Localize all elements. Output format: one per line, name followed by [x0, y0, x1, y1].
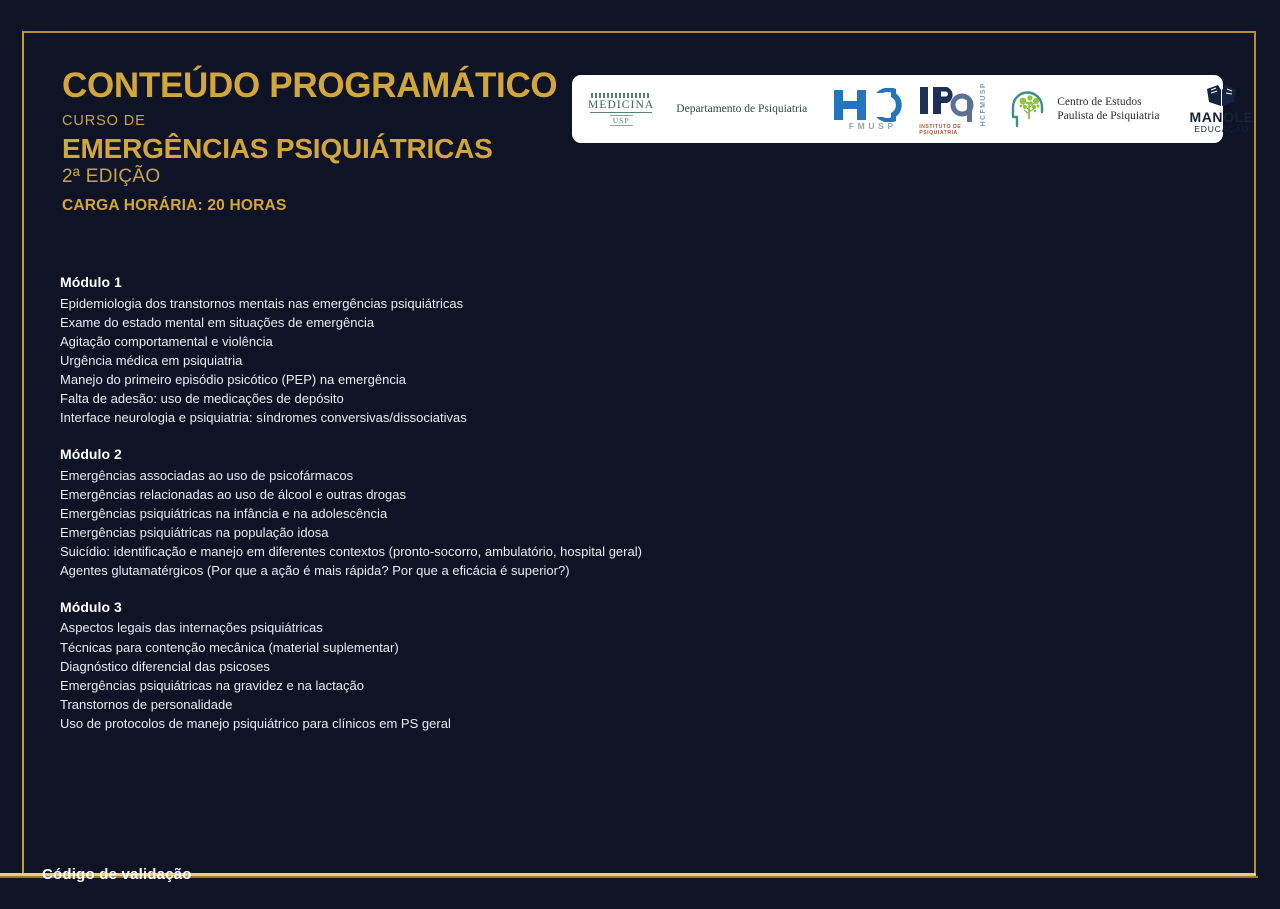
- head-brain-icon: [1009, 88, 1051, 130]
- ipq-hcfmusp-label: HCFMUSP: [980, 82, 987, 126]
- partner-logo-bar: MEDICINA USP Departamento de Psiquiatria…: [572, 75, 1223, 143]
- module-title: Módulo 2: [60, 444, 1190, 466]
- hc-monogram-icon: [833, 88, 909, 122]
- course-edition: 2ª EDIÇÃO: [62, 167, 562, 188]
- module-item: Técnicas para contenção mecânica (materi…: [60, 638, 1190, 657]
- module-title: Módulo 1: [60, 272, 1190, 294]
- module-item: Agentes glutamatérgicos (Por que a ação …: [60, 561, 1190, 580]
- module-item: Urgência médica em psiquiatria: [60, 351, 1190, 370]
- manole-wordmark-label: MANOLE: [1189, 110, 1253, 125]
- ipq-logo: INSTITUTO DE PSIQUIATRIA HCFMUSP: [919, 82, 987, 136]
- centro-estudos-label: Centro de Estudos Paulista de Psiquiatri…: [1057, 95, 1159, 123]
- usp-ornament-icon: [591, 93, 651, 98]
- module-item: Emergências psiquiátricas na infância e …: [60, 504, 1190, 523]
- ipq-mark-stack: INSTITUTO DE PSIQUIATRIA: [919, 85, 979, 136]
- manole-logo: MANOLE EDUCAÇÃO: [1189, 83, 1253, 134]
- department-label: Departamento de Psiquiatria: [676, 103, 807, 115]
- course-name: EMERGÊNCIAS PSIQUIÁTRICAS: [62, 134, 562, 163]
- module-item: Exame do estado mental em situações de e…: [60, 313, 1190, 332]
- module-block: Módulo 2 Emergências associadas ao uso d…: [60, 444, 1190, 580]
- module-item: Agitação comportamental e violência: [60, 332, 1190, 351]
- module-item: Transtornos de personalidade: [60, 695, 1190, 714]
- course-workload: CARGA HORÁRIA: 20 HORAS: [62, 197, 562, 214]
- usp-rule-divider: [590, 112, 652, 113]
- page-title: CONTEÚDO PROGRAMÁTICO: [62, 68, 562, 103]
- module-item: Epidemiologia dos transtornos mentais na…: [60, 294, 1190, 313]
- module-item: Suicídio: identificação e manejo em dife…: [60, 542, 1190, 561]
- module-block: Módulo 3 Aspectos legais das internações…: [60, 597, 1190, 733]
- module-item: Falta de adesão: uso de medicações de de…: [60, 389, 1190, 408]
- header-block: CONTEÚDO PROGRAMÁTICO CURSO DE EMERGÊNCI…: [62, 68, 562, 214]
- centro-estudos-logo: Centro de Estudos Paulista de Psiquiatri…: [1009, 88, 1159, 130]
- centro-estudos-line2: Paulista de Psiquiatria: [1057, 109, 1159, 123]
- module-item: Interface neurologia e psiquiatria: sínd…: [60, 408, 1190, 427]
- ipq-monogram-icon: [919, 85, 979, 123]
- module-item: Diagnóstico diferencial das psicoses: [60, 657, 1190, 676]
- usp-medicina-label: MEDICINA: [588, 99, 654, 111]
- module-block: Módulo 1 Epidemiologia dos transtornos m…: [60, 272, 1190, 427]
- ipq-institute-label: INSTITUTO DE PSIQUIATRIA: [919, 124, 979, 136]
- manole-sub-label: EDUCAÇÃO: [1194, 125, 1249, 134]
- module-item: Emergências psiquiátricas na população i…: [60, 523, 1190, 542]
- module-item: Uso de protocolos de manejo psiquiátrico…: [60, 714, 1190, 733]
- course-kicker: CURSO DE: [62, 114, 562, 130]
- syllabus-list: Módulo 1 Epidemiologia dos transtornos m…: [60, 272, 1190, 733]
- validation-code-label: Código de validação: [42, 866, 192, 883]
- open-book-icon: [1205, 83, 1239, 109]
- module-item: Emergências associadas ao uso de psicofá…: [60, 466, 1190, 485]
- hc-fmusp-logo: FMUSP: [833, 88, 909, 131]
- module-item: Manejo do primeiro episódio psicótico (P…: [60, 370, 1190, 389]
- module-title: Módulo 3: [60, 597, 1190, 619]
- hc-fmusp-label: FMUSP: [849, 121, 897, 131]
- module-item: Emergências relacionadas ao uso de álcoo…: [60, 485, 1190, 504]
- centro-estudos-line1: Centro de Estudos: [1057, 95, 1159, 109]
- module-item: Aspectos legais das internações psiquiát…: [60, 618, 1190, 637]
- usp-medicina-logo: MEDICINA USP: [588, 93, 654, 126]
- module-item: Emergências psiquiátricas na gravidez e …: [60, 676, 1190, 695]
- usp-sub-label: USP: [610, 115, 633, 126]
